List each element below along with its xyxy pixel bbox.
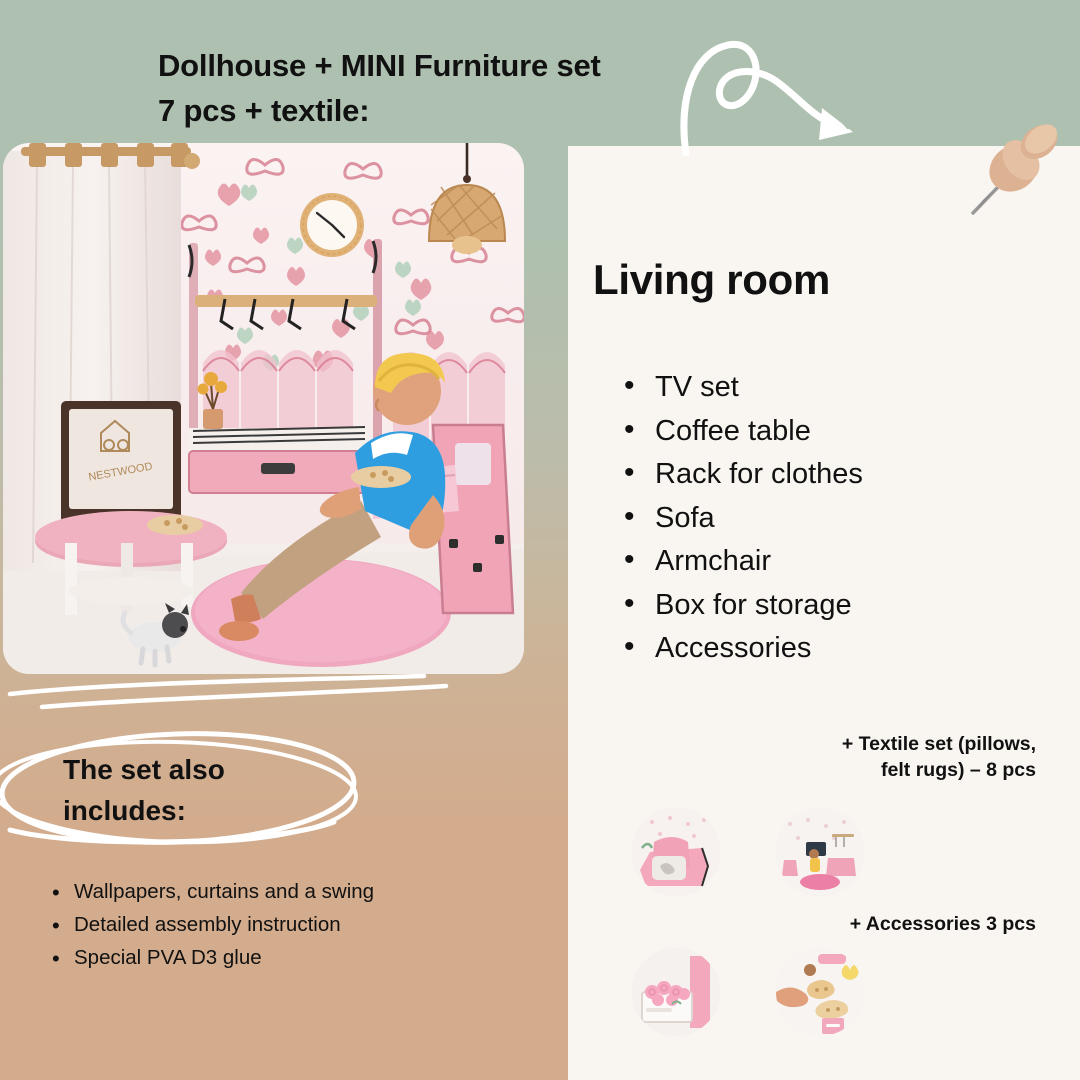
pushpin-icon [963,112,1073,222]
textile-note-line-1: + Textile set (pillows, [740,731,1036,757]
list-item: Detailed assembly instruction [46,909,526,942]
thumbnail-row-accessories [632,948,864,1036]
left-subheading-line-2: includes: [63,791,363,832]
page-title-line-2: 7 pcs + textile: [158,89,718,134]
list-item: Wallpapers, curtains and a swing [46,876,526,909]
list-item: Sofa [620,497,1040,541]
living-room-heading: Living room [593,256,830,304]
poster-canvas: Dollhouse + MINI Furniture set 7 pcs + t… [0,0,1080,1080]
left-subheading: The set also includes: [63,750,363,831]
thumbnail-row-textile [632,808,864,896]
page-title-line-1: Dollhouse + MINI Furniture set [158,44,718,89]
thumb-pink-armchair-pillows[interactable] [632,808,720,896]
textile-note-line-2: felt rugs) – 8 pcs [740,757,1036,783]
hero-photo: NESTWOOD [3,143,524,674]
underline-doodle [0,668,470,730]
left-includes-list: Wallpapers, curtains and a swing Detaile… [46,876,526,974]
textile-set-note: + Textile set (pillows, felt rugs) – 8 p… [740,731,1036,784]
thumb-accessories-controllers[interactable] [776,948,864,1036]
left-subheading-line-1: The set also [63,750,363,791]
curved-heart-arrow-icon [672,36,892,156]
list-item: Rack for clothes [620,453,1040,497]
list-item: Coffee table [620,410,1040,454]
list-item: TV set [620,366,1040,410]
thumb-room-overview[interactable] [776,808,864,896]
thumb-storage-box-roses[interactable] [632,948,720,1036]
page-title: Dollhouse + MINI Furniture set 7 pcs + t… [158,44,718,133]
list-item: Armchair [620,540,1040,584]
list-item: Accessories [620,627,1040,671]
accessories-note: + Accessories 3 pcs [740,911,1036,937]
list-item: Special PVA D3 glue [46,942,526,975]
living-room-items-list: TV set Coffee table Rack for clothes Sof… [620,366,1040,671]
list-item: Box for storage [620,584,1040,628]
